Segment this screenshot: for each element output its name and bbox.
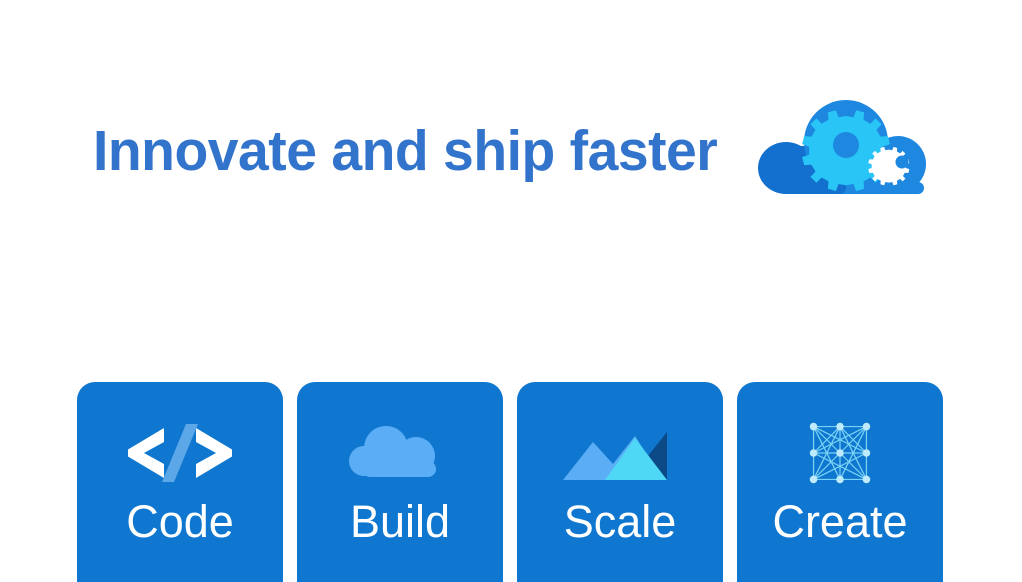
feature-card-strip: Code Build	[77, 382, 948, 582]
feature-card-label: Scale	[517, 496, 723, 548]
cloud-gears-icon	[758, 98, 926, 198]
feature-card-label: Code	[77, 496, 283, 548]
feature-card-label: Create	[737, 496, 943, 548]
feature-card-scale[interactable]: Scale	[517, 382, 723, 582]
feature-card-code[interactable]: Code	[77, 382, 283, 582]
feature-card-create[interactable]: Create	[737, 382, 943, 582]
mountains-icon	[517, 422, 723, 484]
feature-card-build[interactable]: Build	[297, 382, 503, 582]
neural-network-icon	[737, 422, 943, 484]
feature-card-label: Build	[297, 496, 503, 548]
slide-canvas: Innovate and ship faster	[0, 0, 1022, 575]
code-brackets-icon	[77, 422, 283, 484]
cloud-icon	[297, 422, 503, 484]
headline-row: Innovate and ship faster	[93, 96, 933, 206]
page-title: Innovate and ship faster	[93, 96, 717, 206]
